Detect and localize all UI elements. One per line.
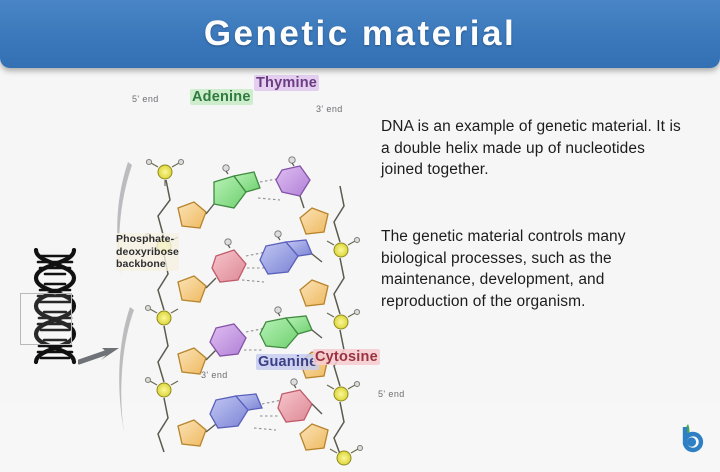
paragraph-1-block: DNA is an example of genetic material. I… bbox=[381, 116, 691, 181]
phosphate-group bbox=[145, 377, 178, 397]
dna-structure-diagram bbox=[108, 142, 398, 472]
base-pair-guanine-cytosine bbox=[206, 379, 322, 432]
phosphate-group bbox=[330, 445, 363, 465]
label-thymine: Thymine bbox=[254, 75, 319, 91]
page-title: Genetic material bbox=[204, 14, 516, 54]
base-pair-cytosine-guanine bbox=[206, 231, 322, 288]
paragraph-2: The genetic material controls many biolo… bbox=[381, 226, 691, 312]
phosphate-group bbox=[327, 381, 360, 401]
page-header: Genetic material bbox=[0, 0, 720, 68]
label-3prime-end-top-right: 3' end bbox=[316, 104, 343, 114]
label-5prime-end-bottom-right: 5' end bbox=[378, 389, 405, 399]
label-adenine: Adenine bbox=[190, 89, 253, 105]
label-cytosine: Cytosine bbox=[313, 349, 380, 365]
biology-online-logo bbox=[672, 421, 706, 455]
phosphate-group bbox=[327, 237, 360, 257]
selection-box bbox=[20, 293, 72, 345]
content-area: 5' end 3' end 3' end 5' end Adenine Thym… bbox=[0, 68, 720, 404]
phosphate-group bbox=[327, 309, 360, 329]
paragraph-1: DNA is an example of genetic material. I… bbox=[381, 116, 691, 181]
label-backbone-line3: backbone bbox=[116, 258, 179, 271]
phosphate-group bbox=[146, 159, 183, 186]
phosphate-group bbox=[145, 305, 178, 325]
label-backbone-line2: deoxyribose bbox=[116, 246, 179, 259]
label-backbone: Phosphate- deoxyribose backbone bbox=[116, 233, 179, 271]
base-pair-adenine-thymine bbox=[206, 157, 310, 214]
label-3prime-end-bottom-left: 3' end bbox=[201, 370, 228, 380]
label-backbone-line1: Phosphate- bbox=[116, 233, 179, 246]
base-pair-thymine-adenine bbox=[206, 307, 322, 360]
label-guanine: Guanine bbox=[256, 354, 319, 370]
paragraph-2-block: The genetic material controls many biolo… bbox=[381, 226, 691, 312]
label-5prime-end-top-left: 5' end bbox=[132, 94, 159, 104]
